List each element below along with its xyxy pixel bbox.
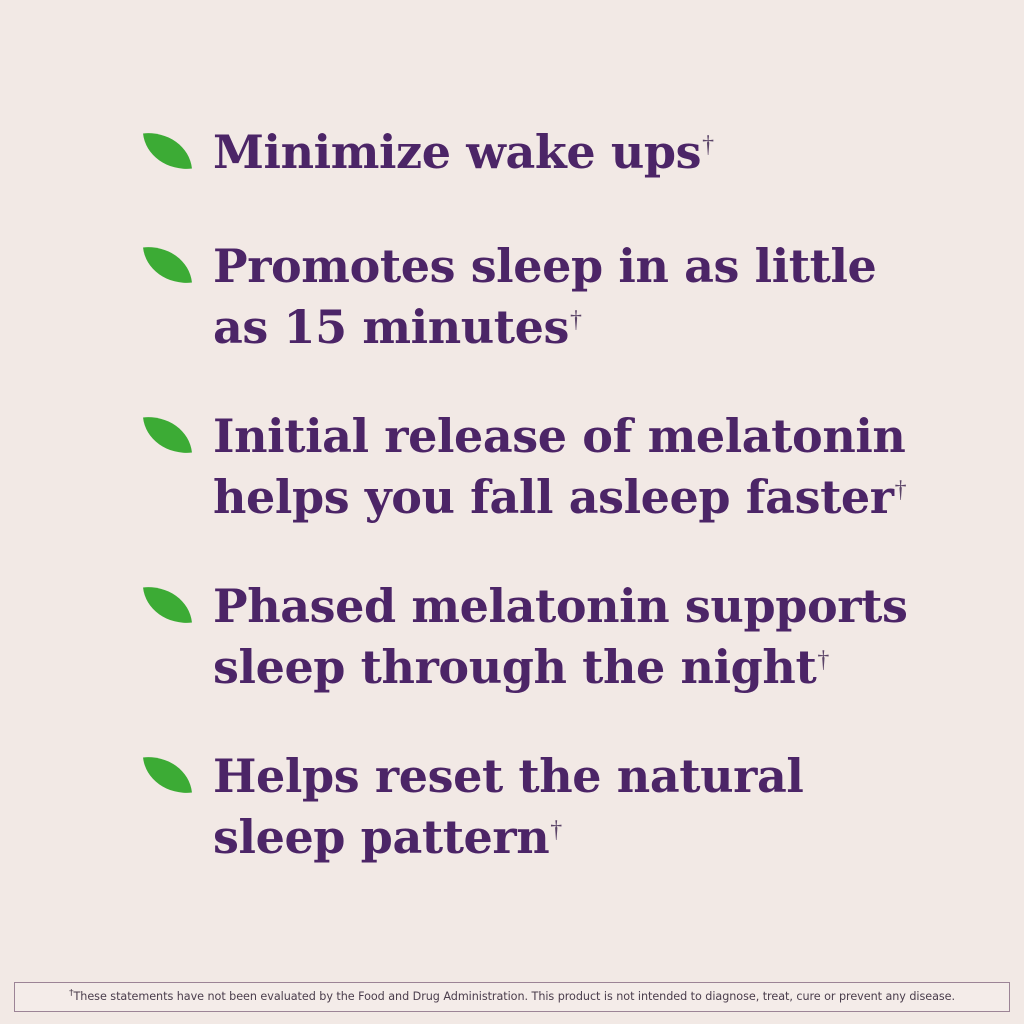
benefit-item-initial-release-melatonin: Initial release of melatonin helps you f… bbox=[145, 406, 1005, 528]
benefit-text: Initial release of melatonin helps you f… bbox=[213, 406, 1005, 528]
benefit-label: Minimize wake ups bbox=[213, 125, 701, 179]
benefit-item-minimize-wake-ups: Minimize wake ups† bbox=[145, 122, 1005, 183]
leaf-icon bbox=[143, 413, 192, 457]
footnote-marker: † bbox=[702, 132, 714, 158]
leaf-icon bbox=[143, 583, 192, 627]
footnote-marker: † bbox=[570, 307, 582, 333]
leaf-icon bbox=[143, 243, 192, 287]
leaf-icon bbox=[143, 129, 192, 173]
footnote-marker: † bbox=[895, 477, 907, 503]
benefit-text: Helps reset the natural sleep pattern† bbox=[213, 746, 1005, 868]
leaf-icon bbox=[143, 753, 192, 797]
benefit-label: Helps reset the natural sleep pattern bbox=[213, 749, 803, 864]
product-benefits-panel: Minimize wake ups† Promotes sleep in as … bbox=[0, 0, 1024, 1024]
disclaimer-body: These statements have not been evaluated… bbox=[74, 990, 956, 1003]
benefit-label: Promotes sleep in as little as 15 minute… bbox=[213, 239, 876, 354]
benefit-item-promotes-sleep-15-minutes: Promotes sleep in as little as 15 minute… bbox=[145, 236, 1005, 358]
benefit-label: Phased melatonin supports sleep through … bbox=[213, 579, 907, 694]
disclaimer-text: †These statements have not been evaluate… bbox=[69, 990, 955, 1004]
benefit-text: Minimize wake ups† bbox=[213, 122, 1005, 183]
footnote-marker: † bbox=[817, 647, 829, 673]
benefit-text: Promotes sleep in as little as 15 minute… bbox=[213, 236, 1005, 358]
benefit-label: Initial release of melatonin helps you f… bbox=[213, 409, 905, 524]
footnote-marker: † bbox=[550, 817, 562, 843]
benefit-text: Phased melatonin supports sleep through … bbox=[213, 576, 1005, 698]
benefit-item-helps-reset-sleep-pattern: Helps reset the natural sleep pattern† bbox=[145, 746, 1005, 868]
benefit-item-phased-melatonin-supports: Phased melatonin supports sleep through … bbox=[145, 576, 1005, 698]
disclaimer-box: †These statements have not been evaluate… bbox=[14, 982, 1010, 1012]
